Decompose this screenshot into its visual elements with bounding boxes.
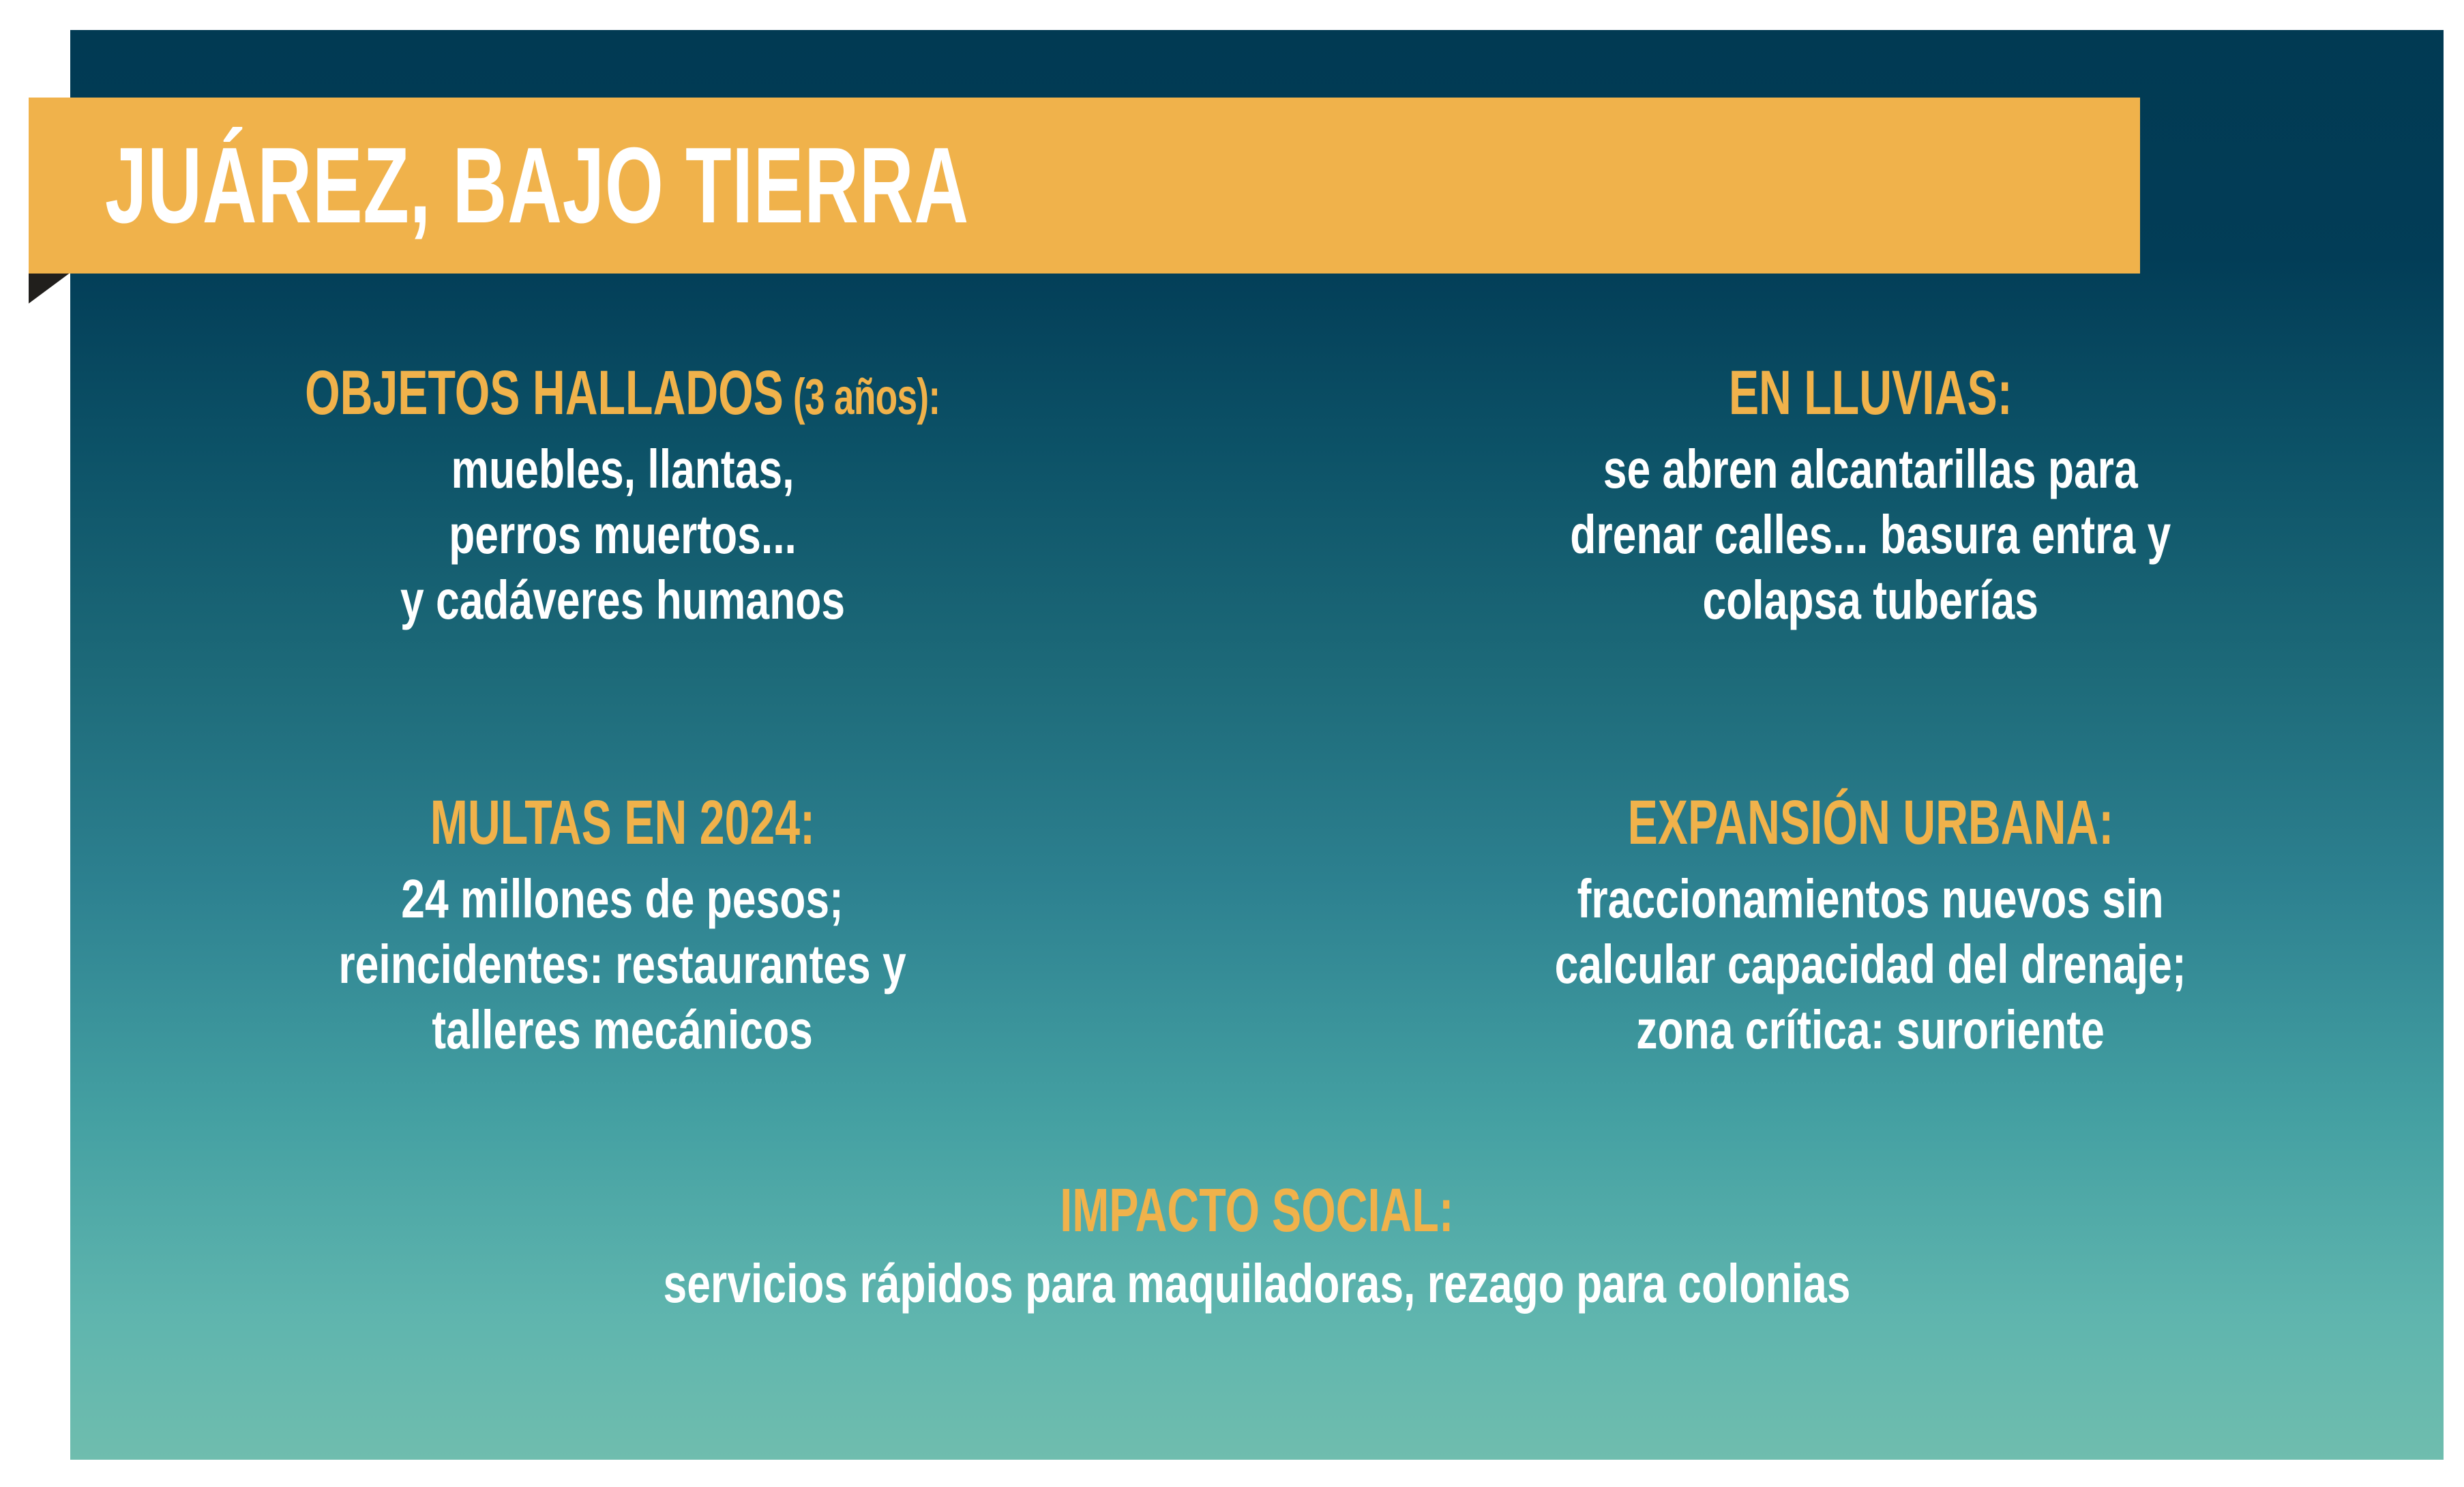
block-expansion-urbana: EXPANSIÓN URBANA: fraccionamientos nuevo…	[1257, 791, 2444, 1063]
heading-main-text: MULTAS EN 2024:	[430, 788, 815, 857]
infographic-root: JUÁREZ, BAJO TIERRA OBJETOS HALLADOS (3 …	[0, 0, 2464, 1487]
block-multas-en-2024: MULTAS EN 2024: 24 millones de pesos; re…	[70, 791, 1257, 1063]
heading-main-text: OBJETOS HALLADOS	[305, 358, 784, 428]
block-impacto-social: IMPACTO SOCIAL: servicios rápidos para m…	[70, 1180, 2444, 1316]
banner-fold-shadow	[29, 272, 71, 304]
heading-impacto-social: IMPACTO SOCIAL:	[1060, 1180, 1453, 1241]
heading-objetos-hallados: OBJETOS HALLADOS (3 años):	[305, 362, 940, 424]
content-row-middle: MULTAS EN 2024: 24 millones de pesos; re…	[70, 791, 2444, 1063]
heading-sub-text: (3 años):	[784, 368, 940, 425]
block-objetos-hallados: OBJETOS HALLADOS (3 años): muebles, llan…	[70, 362, 1257, 633]
body-impacto-social: servicios rápidos para maquiladoras, rez…	[664, 1251, 1851, 1316]
heading-main-text: IMPACTO SOCIAL:	[1060, 1177, 1453, 1245]
content-row-top: OBJETOS HALLADOS (3 años): muebles, llan…	[70, 362, 2444, 633]
content-area: OBJETOS HALLADOS (3 años): muebles, llan…	[70, 321, 2444, 1460]
body-expansion-urbana: fraccionamientos nuevos sin calcular cap…	[1555, 866, 2186, 1063]
title-banner: JUÁREZ, BAJO TIERRA	[29, 98, 2140, 274]
body-en-lluvias: se abren alcantarillas para drenar calle…	[1571, 437, 2171, 633]
heading-main-text: EXPANSIÓN URBANA:	[1628, 788, 2114, 857]
body-multas-en-2024: 24 millones de pesos; reincidentes: rest…	[339, 866, 906, 1063]
body-objetos-hallados: muebles, llantas, perros muertos... y ca…	[400, 437, 845, 633]
heading-multas-en-2024: MULTAS EN 2024:	[430, 791, 815, 854]
page-title: JUÁREZ, BAJO TIERRA	[105, 132, 969, 239]
heading-expansion-urbana: EXPANSIÓN URBANA:	[1628, 791, 2114, 854]
heading-en-lluvias: EN LLUVIAS:	[1729, 362, 2013, 424]
block-en-lluvias: EN LLUVIAS: se abren alcantarillas para …	[1257, 362, 2444, 633]
heading-main-text: EN LLUVIAS:	[1729, 358, 2013, 428]
